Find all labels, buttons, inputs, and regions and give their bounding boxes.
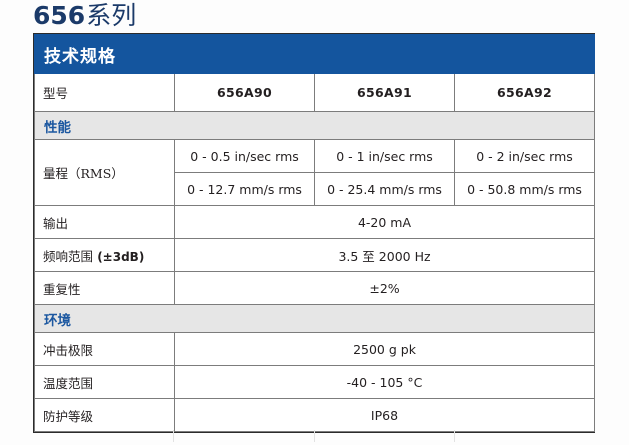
model-value-3: 656A92 (455, 74, 595, 112)
range-metric-2: 0 - 25.4 mm/s rms (315, 173, 455, 206)
table-row-shock-limit: 冲击极限 2500 g pk (35, 333, 595, 366)
section-header-environment-label: 环境 (44, 313, 71, 329)
row-label-temperature-range: 温度范围 (35, 366, 175, 399)
page-title: 656系列 (33, 1, 136, 31)
table-row-model: 型号 656A90 656A91 656A92 (35, 74, 595, 112)
range-metric-1: 0 - 12.7 mm/s rms (175, 173, 315, 206)
section-header-environment: 环境 (35, 305, 595, 333)
section-header-performance: 性能 (35, 112, 595, 140)
range-metric-3: 0 - 50.8 mm/s rms (455, 173, 595, 206)
specification-table: 技术规格 型号 656A90 656A91 656A92 性能 量程（RMS） … (34, 34, 595, 432)
frequency-response-connector: 至 (362, 249, 375, 264)
range-imperial-3: 0 - 2 in/sec rms (455, 140, 595, 173)
row-label-output: 输出 (35, 206, 175, 239)
row-value-output: 4-20 mA (175, 206, 595, 239)
row-label-frequency-response: 频响范围 (±3dB) (35, 239, 175, 272)
model-value-2: 656A91 (315, 74, 455, 112)
section-header-environment-cell: 环境 (35, 305, 595, 333)
table-row-frequency-response: 频响范围 (±3dB) 3.5 至 2000 Hz (35, 239, 595, 272)
model-value-1: 656A90 (175, 74, 315, 112)
range-imperial-1: 0 - 0.5 in/sec rms (175, 140, 315, 173)
table-row-repeatability: 重复性 ±2% (35, 272, 595, 305)
section-header-performance-label: 性能 (44, 120, 71, 136)
row-label-repeatability: 重复性 (35, 272, 175, 305)
row-label-frequency-response-tolerance: (±3dB) (93, 250, 144, 264)
row-value-repeatability: ±2% (175, 272, 595, 305)
section-header-performance-cell: 性能 (35, 112, 595, 140)
range-imperial-2: 0 - 1 in/sec rms (315, 140, 455, 173)
row-label-frequency-response-cjk: 频响范围 (43, 249, 93, 264)
page-title-number: 656 (33, 1, 85, 30)
row-label-model: 型号 (35, 74, 175, 112)
table-footer-guides (33, 430, 595, 442)
row-value-temperature-range: -40 - 105 °C (175, 366, 595, 399)
row-value-shock-limit: 2500 g pk (175, 333, 595, 366)
specification-table-container: 技术规格 型号 656A90 656A91 656A92 性能 量程（RMS） … (33, 33, 595, 433)
frequency-response-low: 3.5 (338, 249, 362, 264)
frequency-response-high: 2000 Hz (375, 249, 431, 264)
page-title-cjk: 系列 (86, 1, 136, 30)
table-banner-label: 技术规格 (44, 47, 116, 67)
table-row-output: 输出 4-20 mA (35, 206, 595, 239)
table-row-temperature-range: 温度范围 -40 - 105 °C (35, 366, 595, 399)
row-value-frequency-response: 3.5 至 2000 Hz (175, 239, 595, 272)
table-row-range-imperial: 量程（RMS） 0 - 0.5 in/sec rms 0 - 1 in/sec … (35, 140, 595, 173)
row-label-range: 量程（RMS） (35, 140, 175, 206)
row-label-shock-limit: 冲击极限 (35, 333, 175, 366)
table-banner-cell: 技术规格 (35, 35, 595, 74)
row-value-ingress-protection: IP68 (175, 399, 595, 432)
table-banner-row: 技术规格 (35, 35, 595, 74)
row-label-ingress-protection: 防护等级 (35, 399, 175, 432)
table-row-ingress-protection: 防护等级 IP68 (35, 399, 595, 432)
